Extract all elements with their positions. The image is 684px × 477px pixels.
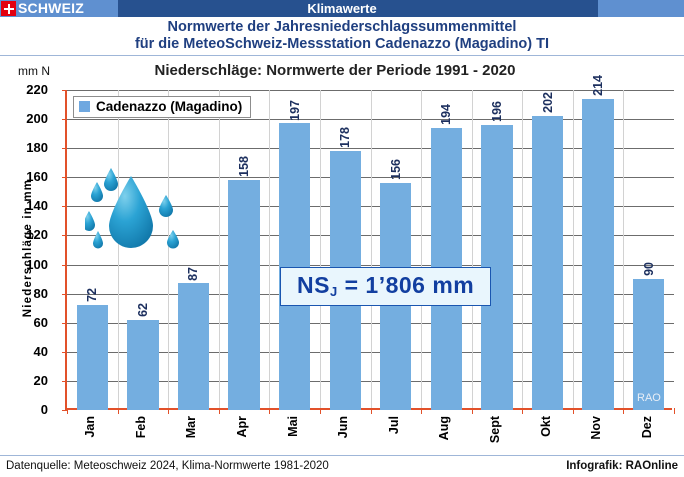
x-label-jun: Jun xyxy=(336,416,350,438)
chart-legend: Cadenazzo (Magadino) xyxy=(73,96,251,118)
legend-label: Cadenazzo (Magadino) xyxy=(96,99,242,114)
chart-plot-wrapper: Niederschläge in mm 22020018016014012010… xyxy=(0,90,684,420)
y-tick-180: 180 xyxy=(2,140,48,155)
x-label-jul: Jul xyxy=(387,416,401,434)
water-drop-svg xyxy=(85,160,200,270)
y-tick-140: 140 xyxy=(2,198,48,213)
water-drop-icon xyxy=(85,160,200,270)
y-tick-120: 120 xyxy=(2,227,48,242)
x-label-dez: Dez xyxy=(640,416,654,438)
legend-swatch-icon xyxy=(79,101,90,112)
bar-apr[interactable] xyxy=(228,180,259,410)
header-banner: Klimawerte SCHWEIZ xyxy=(0,0,684,17)
bar-value-dez: 90 xyxy=(642,262,656,276)
bar-feb[interactable] xyxy=(127,320,158,410)
ns-value: 1’806 xyxy=(365,272,425,298)
plot-area: 72628715819717815619419620221490RAO xyxy=(65,90,672,410)
x-label-aug: Aug xyxy=(437,416,451,440)
bar-value-feb: 62 xyxy=(136,303,150,317)
x-tickmark xyxy=(674,408,675,414)
ns-equals: = xyxy=(338,272,366,298)
y-axis-unit-label: mm N xyxy=(18,64,50,78)
bar-okt[interactable] xyxy=(532,116,563,410)
x-label-nov: Nov xyxy=(589,416,603,440)
bar-value-nov: 214 xyxy=(591,75,605,96)
x-label-apr: Apr xyxy=(235,416,249,438)
x-label-okt: Okt xyxy=(539,416,553,437)
y-tick-100: 100 xyxy=(2,257,48,272)
y-tick-160: 160 xyxy=(2,169,48,184)
bar-nov[interactable] xyxy=(582,99,613,410)
annual-total-text: NSJ = 1’806 mm xyxy=(297,272,474,298)
annual-total-callout: NSJ = 1’806 mm xyxy=(280,267,491,306)
y-tick-0: 0 xyxy=(2,402,48,417)
bar-jan[interactable] xyxy=(77,305,108,410)
bar-value-jan: 72 xyxy=(85,288,99,302)
ns-unit: mm xyxy=(425,272,474,298)
y-tick-200: 200 xyxy=(2,111,48,126)
y-axis-tick-labels: 220200180160140120100806040200 xyxy=(2,90,48,410)
footer-credit: Infografik: RAOnline xyxy=(566,460,678,472)
country-label: SCHWEIZ xyxy=(18,0,84,17)
bar-dez[interactable] xyxy=(633,279,664,410)
bar-value-jun: 178 xyxy=(338,127,352,148)
rao-watermark: RAO xyxy=(637,392,661,404)
bar-mar[interactable] xyxy=(178,283,209,410)
footer-divider xyxy=(0,455,684,456)
x-label-mai: Mai xyxy=(286,416,300,437)
page-subtitle: Normwerte der Jahresniederschlagssummenm… xyxy=(0,19,684,53)
chart-title: Niederschläge: Normwerte der Periode 199… xyxy=(100,62,570,79)
header-divider xyxy=(0,55,684,56)
swiss-flag-icon xyxy=(1,1,16,16)
bar-value-apr: 158 xyxy=(237,156,251,177)
bar-value-sept: 196 xyxy=(490,101,504,122)
y-tick-40: 40 xyxy=(2,344,48,359)
banner-accent-block xyxy=(598,0,684,17)
infographic-page: Klimawerte SCHWEIZ Normwerte der Jahresn… xyxy=(0,0,684,477)
bar-value-aug: 194 xyxy=(439,104,453,125)
bar-value-okt: 202 xyxy=(541,92,555,113)
y-tick-80: 80 xyxy=(2,286,48,301)
x-label-jan: Jan xyxy=(83,416,97,438)
subtitle-line-1: Normwerte der Jahresniederschlagssummenm… xyxy=(0,19,684,36)
ns-prefix: NS xyxy=(297,272,330,298)
y-tick-20: 20 xyxy=(2,373,48,388)
bar-value-jul: 156 xyxy=(389,159,403,180)
x-label-mar: Mar xyxy=(184,416,198,438)
ns-subscript: J xyxy=(330,284,338,299)
subtitle-line-2: für die MeteoSchweiz-Messstation Cadenaz… xyxy=(0,36,684,53)
y-tick-60: 60 xyxy=(2,315,48,330)
x-label-sept: Sept xyxy=(488,416,502,443)
country-badge: SCHWEIZ xyxy=(0,0,118,17)
footer-source: Datenquelle: Meteoschweiz 2024, Klima-No… xyxy=(6,460,329,472)
bar-value-mai: 197 xyxy=(288,100,302,121)
x-label-feb: Feb xyxy=(134,416,148,438)
y-tick-220: 220 xyxy=(2,82,48,97)
